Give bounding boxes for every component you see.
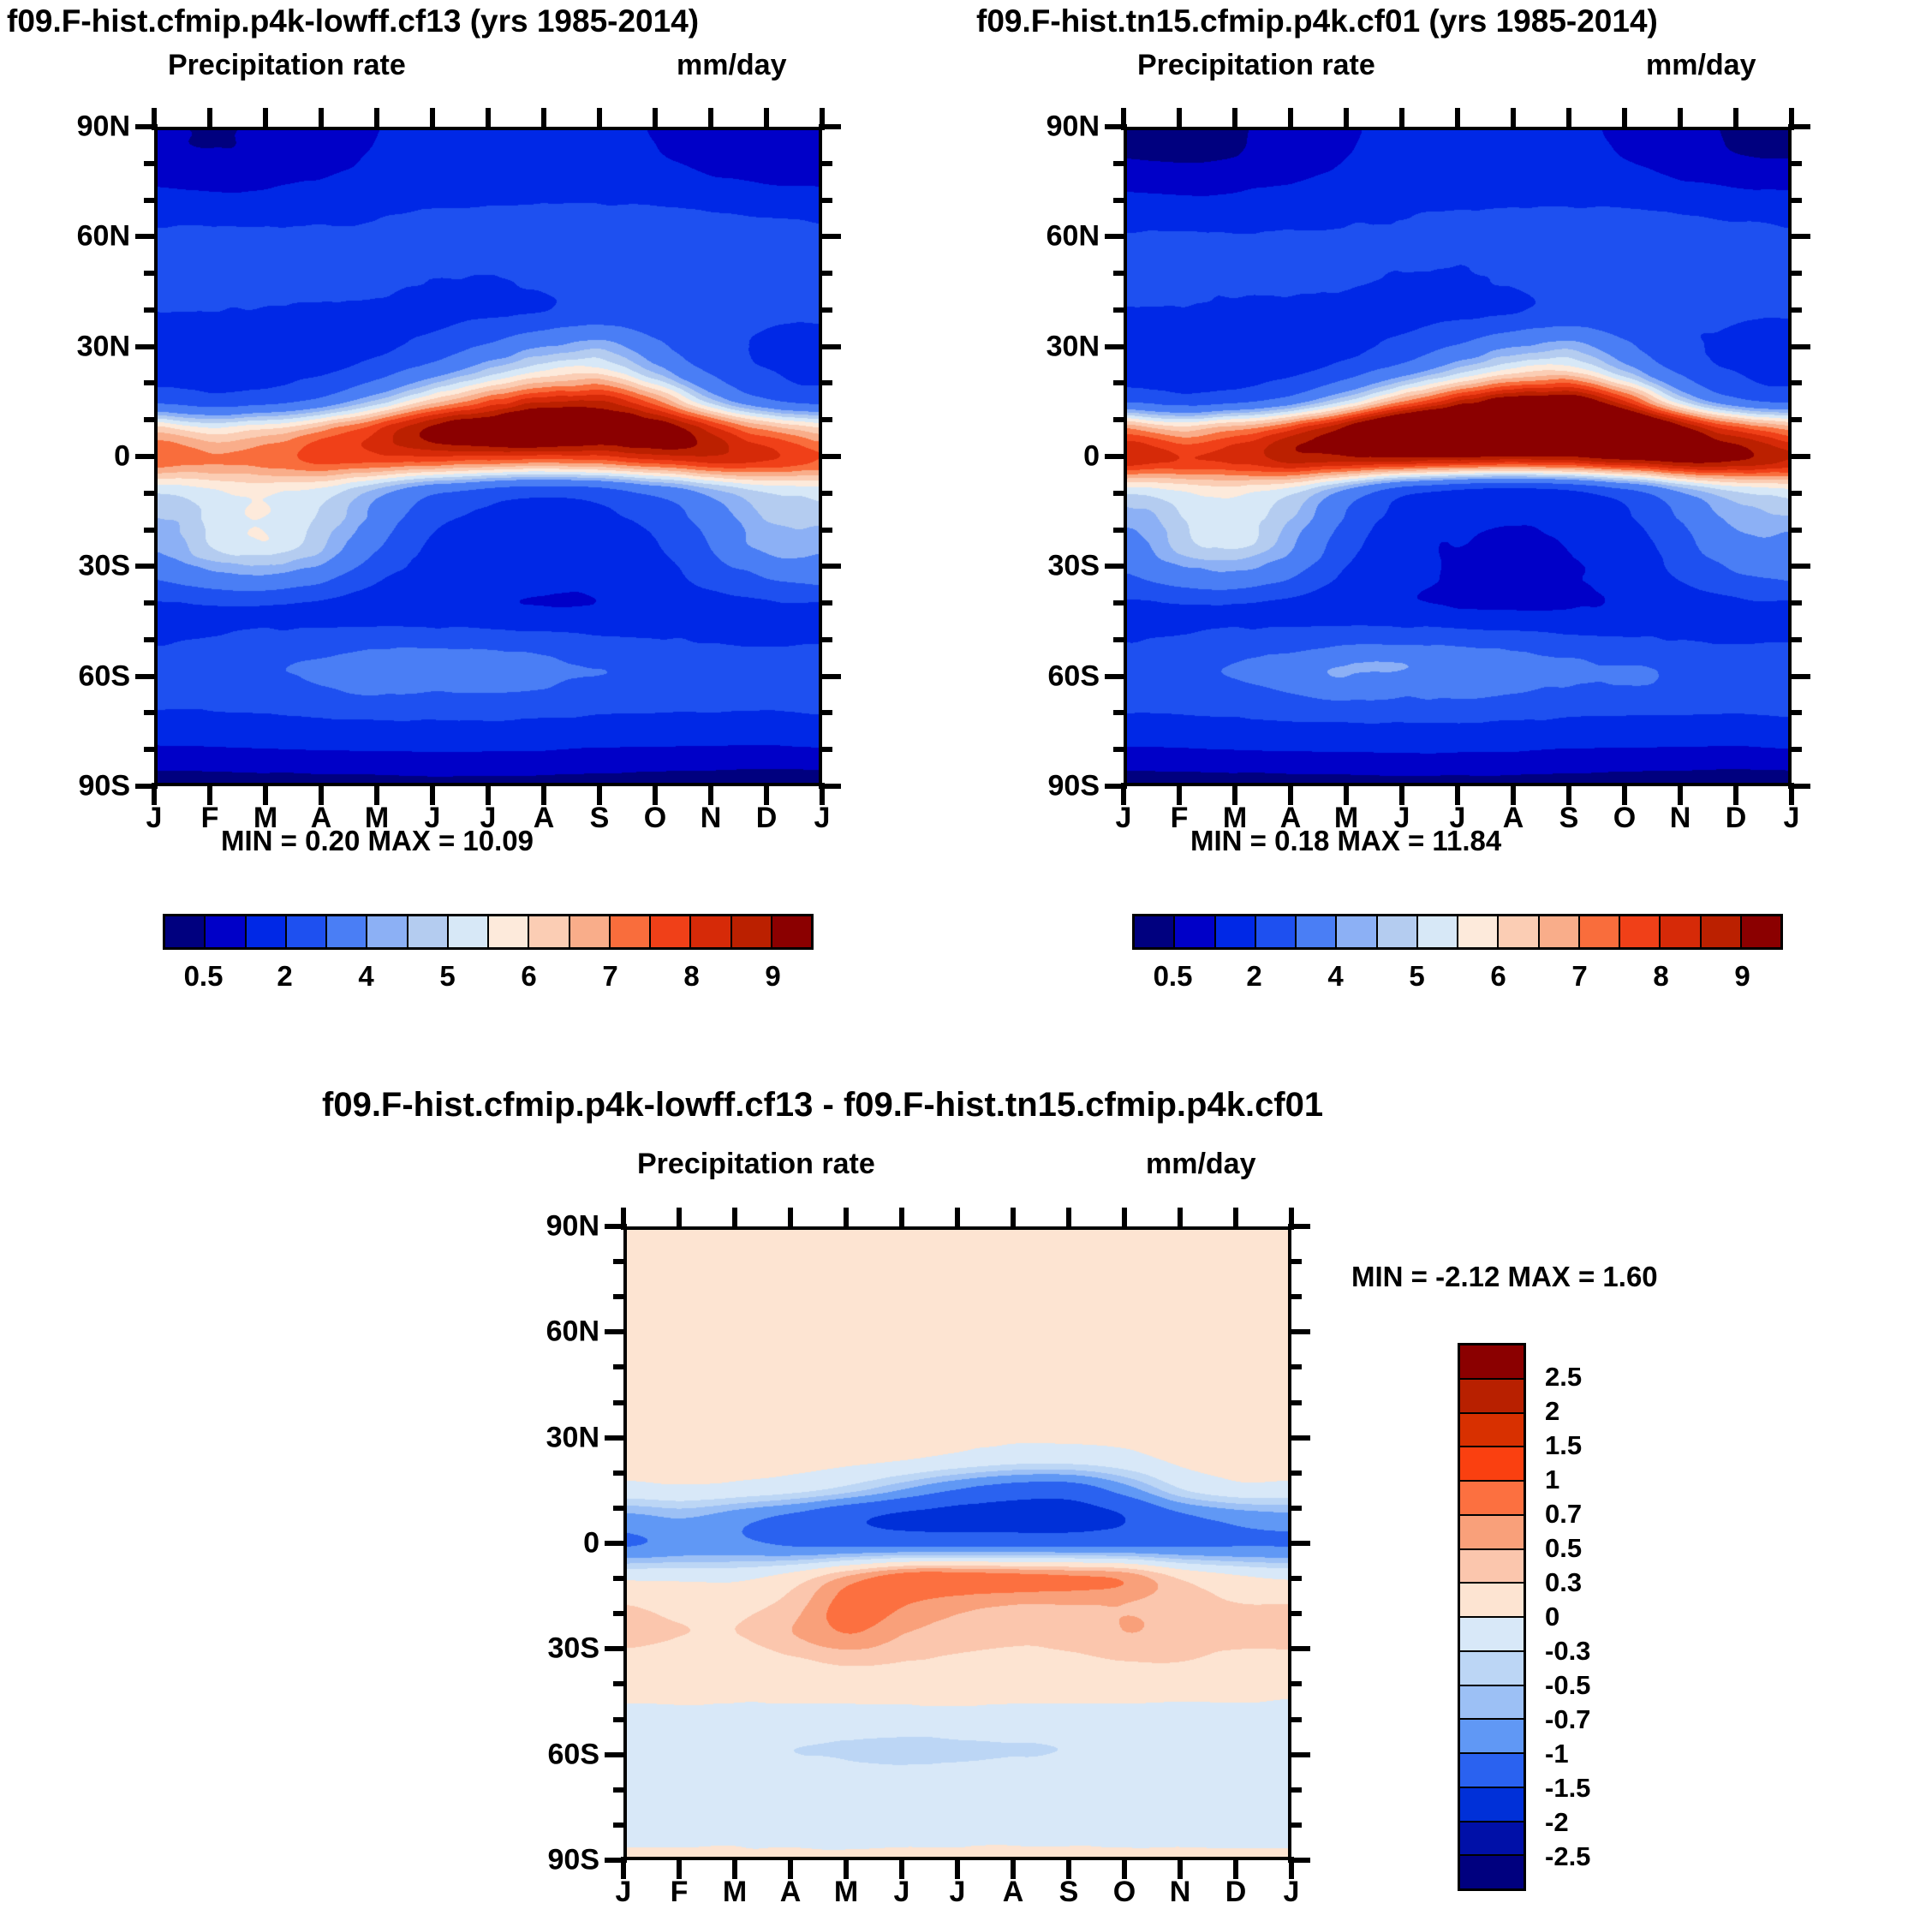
x-tick (820, 108, 825, 130)
colorbar-tick-label: 0.5 (1545, 1533, 1582, 1564)
colorbar-swatch (1499, 916, 1539, 947)
x-tick (708, 108, 713, 130)
x-tick (621, 1208, 626, 1230)
colorbar-swatch (1460, 1482, 1524, 1516)
y-tick-minor (1788, 380, 1802, 385)
y-axis-label: 90N (978, 110, 1100, 144)
colorbar-tick-label: 9 (765, 960, 780, 993)
colorbar-top-left[interactable] (163, 914, 814, 950)
colorbar-tick-label: 2 (1246, 960, 1261, 993)
y-tick-major (135, 454, 158, 459)
colorbar-tick-label: -0.3 (1545, 1636, 1590, 1667)
x-axis-month-label: J (814, 802, 831, 835)
y-tick-minor (819, 271, 832, 276)
x-tick (1178, 1208, 1183, 1230)
y-tick-minor (1288, 1294, 1302, 1299)
colorbar-tick-label: 1 (1545, 1465, 1559, 1495)
colorbar-swatch (1540, 916, 1580, 947)
y-tick-minor (613, 1576, 627, 1581)
y-tick-major (605, 1435, 627, 1441)
y-tick-minor (144, 307, 158, 313)
colorbar-swatch (1460, 1516, 1524, 1550)
x-axis-month-label: S (590, 802, 610, 835)
colorbar-swatch (1460, 1618, 1524, 1652)
y-tick-minor (1288, 1364, 1302, 1369)
y-tick-major (1288, 1646, 1310, 1651)
y-tick-minor (819, 198, 832, 203)
colorbar-tick-label: 9 (1734, 960, 1750, 993)
x-tick (1122, 1208, 1127, 1230)
x-tick (1344, 108, 1349, 130)
y-tick-minor (613, 1787, 627, 1793)
colorbar-tick-label: 4 (358, 960, 373, 993)
min-max-difference: MIN = -2.12 MAX = 1.60 (1351, 1261, 1658, 1293)
x-axis-month-label: N (1670, 802, 1691, 835)
colorbar-swatch (1460, 1414, 1524, 1448)
colorbar-tick-label: 0.3 (1545, 1567, 1582, 1598)
x-tick (844, 1208, 849, 1230)
x-axis-month-label: J (1116, 802, 1132, 835)
y-tick-minor (1288, 1823, 1302, 1828)
colorbar-swatch (529, 916, 569, 947)
y-tick-minor (1113, 161, 1127, 166)
colorbar-swatch (489, 916, 529, 947)
y-tick-major (605, 1752, 627, 1757)
y-tick-minor (613, 1681, 627, 1686)
y-tick-minor (1288, 1259, 1302, 1264)
min-max-top-left: MIN = 0.20 MAX = 10.09 (221, 825, 534, 857)
colorbar-swatch (1175, 916, 1215, 947)
y-tick-minor (1113, 747, 1127, 752)
colorbar-tick-label: -2 (1545, 1807, 1569, 1838)
y-tick-minor (1788, 528, 1802, 533)
y-tick-major (819, 564, 841, 569)
colorbar-swatch (1460, 1652, 1524, 1686)
x-tick (486, 108, 491, 130)
y-tick-minor (1288, 1611, 1302, 1616)
y-tick-minor (1113, 491, 1127, 496)
y-tick-minor (1113, 417, 1127, 422)
colorbar-swatch (1460, 1550, 1524, 1584)
x-tick (1066, 1208, 1071, 1230)
figure-root: f09.F-hist.cfmip.p4k-lowff.cf13 (yrs 198… (0, 0, 1932, 1915)
y-axis-label: 90N (9, 110, 130, 144)
x-tick (732, 1208, 737, 1230)
y-tick-minor (819, 380, 832, 385)
colorbar-swatch (1460, 1345, 1524, 1380)
colorbar-swatch (1458, 916, 1499, 947)
y-tick-minor (819, 710, 832, 715)
colorbar-swatch (1337, 916, 1377, 947)
x-tick (1455, 108, 1460, 130)
colorbar-swatch (1460, 1380, 1524, 1414)
y-tick-major (135, 564, 158, 569)
y-tick-minor (144, 600, 158, 606)
colorbar-tick-label: -2.5 (1545, 1841, 1590, 1872)
colorbar-tick-label: 2 (277, 960, 292, 993)
colorbar-swatch (1460, 1686, 1524, 1721)
x-tick (1678, 108, 1683, 130)
y-tick-minor (144, 491, 158, 496)
y-tick-minor (1288, 1681, 1302, 1686)
x-tick (207, 108, 212, 130)
y-tick-minor (1788, 161, 1802, 166)
y-tick-major (1288, 1541, 1310, 1546)
y-tick-minor (1113, 637, 1127, 642)
variable-label-difference: Precipitation rate (637, 1148, 875, 1181)
y-tick-major (1788, 454, 1810, 459)
colorbar-tick-label: 5 (439, 960, 455, 993)
x-axis-month-label: J (1284, 1876, 1300, 1909)
y-tick-minor (1113, 528, 1127, 533)
y-axis-label: 90N (478, 1210, 599, 1244)
colorbar-tick-label: 0.5 (1154, 960, 1193, 993)
y-tick-minor (1113, 380, 1127, 385)
y-axis-label: 30N (978, 330, 1100, 363)
x-tick (1789, 108, 1794, 130)
y-tick-major (605, 1541, 627, 1546)
x-tick (430, 108, 435, 130)
x-axis-month-label: J (894, 1876, 910, 1909)
x-tick (653, 108, 658, 130)
colorbar-tick-label: 6 (521, 960, 536, 993)
x-axis-month-label: M (723, 1876, 747, 1909)
colorbar-swatch (1216, 916, 1256, 947)
y-tick-major (605, 1646, 627, 1651)
y-axis-label: 90S (9, 770, 130, 803)
y-tick-major (1788, 564, 1810, 569)
colorbar-tick-label: 1.5 (1545, 1430, 1582, 1461)
colorbar-swatch (732, 916, 772, 947)
x-axis-month-label: J (616, 1876, 632, 1909)
x-axis-month-label: M (834, 1876, 858, 1909)
y-axis-label: 0 (478, 1527, 599, 1560)
min-max-top-right: MIN = 0.18 MAX = 11.84 (1190, 825, 1501, 857)
y-tick-minor (1788, 491, 1802, 496)
panel-title-top-right: f09.F-hist.tn15.cfmip.p4k.cf01 (yrs 1985… (976, 3, 1658, 39)
y-tick-minor (1788, 747, 1802, 752)
y-tick-major (1105, 674, 1127, 679)
y-tick-minor (1788, 307, 1802, 313)
y-tick-minor (819, 528, 832, 533)
colorbar-swatch (1742, 916, 1780, 947)
colorbar-swatch (1460, 1720, 1524, 1754)
colorbar-swatch (247, 916, 287, 947)
units-label-top-right: mm/day (1646, 49, 1756, 82)
x-tick (1177, 108, 1182, 130)
colorbar-swatch (1297, 916, 1337, 947)
x-axis-month-label: F (1171, 802, 1189, 835)
y-tick-minor (613, 1259, 627, 1264)
colorbar-swatch (1460, 1754, 1524, 1788)
y-tick-minor (613, 1717, 627, 1722)
x-axis-month-label: F (671, 1876, 689, 1909)
y-tick-minor (613, 1294, 627, 1299)
x-tick (677, 1208, 682, 1230)
y-axis-label: 0 (9, 440, 130, 474)
colorbar-swatch (691, 916, 731, 947)
y-tick-minor (144, 747, 158, 752)
y-axis-label: 30S (9, 550, 130, 583)
x-axis-month-label: D (1726, 802, 1747, 835)
colorbar-tick-label: 7 (602, 960, 617, 993)
colorbar-tick-label: 2 (1545, 1396, 1559, 1427)
y-axis-label: 60S (978, 659, 1100, 693)
x-tick (764, 108, 769, 130)
colorbar-swatch (327, 916, 367, 947)
y-axis-label: 90S (478, 1844, 599, 1877)
colorbar-tick-label: -1.5 (1545, 1773, 1590, 1804)
y-tick-minor (613, 1400, 627, 1405)
x-axis-month-label: O (644, 802, 666, 835)
x-axis-month-label: A (1003, 1876, 1024, 1909)
colorbar-swatch (1460, 1856, 1524, 1888)
y-tick-minor (613, 1471, 627, 1476)
x-axis-month-label: J (1784, 802, 1800, 835)
colorbar-swatch (1661, 916, 1701, 947)
colorbar-tick-label: 4 (1327, 960, 1343, 993)
x-tick (541, 108, 546, 130)
plot-area-difference[interactable] (623, 1226, 1291, 1860)
colorbar-swatch (367, 916, 408, 947)
y-axis-label: 60S (478, 1738, 599, 1771)
y-axis-label: 30S (978, 550, 1100, 583)
colorbar-tick-label: 2.5 (1545, 1362, 1582, 1393)
y-tick-minor (1788, 271, 1802, 276)
y-axis-label: 60N (978, 220, 1100, 254)
colorbar-tick-label: 0 (1545, 1602, 1559, 1632)
colorbar-tick-label: -0.5 (1545, 1670, 1590, 1701)
colorbar-tick-label: 8 (683, 960, 699, 993)
y-tick-minor (1113, 710, 1127, 715)
x-tick (1011, 1208, 1016, 1230)
y-tick-minor (1788, 417, 1802, 422)
x-tick (1288, 108, 1293, 130)
y-tick-major (1105, 454, 1127, 459)
units-label-difference: mm/day (1146, 1148, 1256, 1181)
y-tick-major (135, 234, 158, 239)
y-axis-label: 60N (9, 220, 130, 254)
y-tick-minor (1788, 600, 1802, 606)
y-axis-label: 30N (9, 330, 130, 363)
y-tick-minor (144, 271, 158, 276)
y-tick-minor (144, 380, 158, 385)
colorbar-swatch (570, 916, 611, 947)
panel-title-bottom: f09.F-hist.cfmip.p4k-lowff.cf13 - f09.F-… (322, 1086, 1323, 1125)
plot-area-top-left[interactable] (154, 127, 822, 786)
y-tick-major (1105, 344, 1127, 349)
colorbar-tick-label: 0.5 (184, 960, 224, 993)
y-axis-label: 30N (478, 1421, 599, 1454)
y-tick-major (1288, 1752, 1310, 1757)
colorbar-tick-label: 6 (1490, 960, 1506, 993)
x-tick (1233, 1208, 1238, 1230)
x-axis-month-label: N (701, 802, 722, 835)
y-tick-major (1788, 344, 1810, 349)
y-tick-minor (144, 161, 158, 166)
colorbar-swatch (1378, 916, 1418, 947)
colorbar-top-right[interactable] (1132, 914, 1783, 950)
x-tick (1733, 108, 1738, 130)
panel-title-top-left: f09.F-hist.cfmip.p4k-lowff.cf13 (yrs 198… (7, 3, 699, 39)
y-axis-label: 0 (978, 440, 1100, 474)
y-axis-label: 30S (478, 1632, 599, 1666)
y-tick-major (605, 1329, 627, 1334)
y-tick-minor (1288, 1471, 1302, 1476)
y-tick-minor (144, 637, 158, 642)
x-axis-month-label: D (1225, 1876, 1247, 1909)
y-tick-major (1288, 1435, 1310, 1441)
plot-area-top-right[interactable] (1124, 127, 1792, 786)
x-tick (374, 108, 379, 130)
x-tick (1289, 1208, 1294, 1230)
x-axis-month-label: O (1113, 1876, 1136, 1909)
y-tick-minor (819, 417, 832, 422)
colorbar-swatch (1418, 916, 1458, 947)
y-tick-minor (819, 307, 832, 313)
colorbar-swatch (1460, 1823, 1524, 1857)
colorbar-swatch (1460, 1447, 1524, 1482)
y-tick-minor (1788, 637, 1802, 642)
y-tick-major (1288, 1329, 1310, 1334)
x-tick (152, 108, 157, 130)
colorbar-tick-label: 7 (1571, 960, 1587, 993)
y-tick-minor (1288, 1576, 1302, 1581)
x-tick (899, 1208, 904, 1230)
colorbar-tick-label: -0.7 (1545, 1704, 1590, 1735)
y-tick-minor (144, 198, 158, 203)
variable-label-top-left: Precipitation rate (168, 49, 406, 82)
x-tick (1399, 108, 1404, 130)
colorbar-swatch (1460, 1788, 1524, 1823)
x-axis-month-label: N (1170, 1876, 1191, 1909)
colorbar-swatch (165, 916, 206, 947)
colorbar-swatch (1135, 916, 1175, 947)
colorbar-swatch (449, 916, 489, 947)
y-tick-major (819, 234, 841, 239)
x-tick (1566, 108, 1571, 130)
colorbar-swatch (772, 916, 811, 947)
colorbar-swatch (1620, 916, 1661, 947)
units-label-top-left: mm/day (677, 49, 787, 82)
y-tick-minor (819, 491, 832, 496)
colorbar-tick-label: 5 (1409, 960, 1424, 993)
colorbar-swatch (206, 916, 246, 947)
x-axis-month-label: A (780, 1876, 802, 1909)
x-tick (788, 1208, 793, 1230)
y-tick-minor (1288, 1717, 1302, 1722)
colorbar-swatch (1702, 916, 1742, 947)
x-tick (319, 108, 324, 130)
y-tick-minor (819, 747, 832, 752)
y-tick-minor (613, 1506, 627, 1511)
y-tick-minor (819, 161, 832, 166)
y-tick-minor (613, 1364, 627, 1369)
x-tick (1511, 108, 1516, 130)
y-tick-minor (144, 710, 158, 715)
x-axis-month-label: J (146, 802, 163, 835)
x-axis-month-label: F (201, 802, 219, 835)
x-axis-month-label: J (950, 1876, 966, 1909)
colorbar-difference[interactable] (1458, 1343, 1526, 1891)
x-axis-month-label: A (534, 802, 555, 835)
y-axis-label: 90S (978, 770, 1100, 803)
x-axis-month-label: S (1059, 1876, 1079, 1909)
x-tick (1232, 108, 1237, 130)
x-tick (1622, 108, 1627, 130)
y-tick-major (135, 674, 158, 679)
y-tick-minor (1288, 1787, 1302, 1793)
x-axis-month-label: D (756, 802, 778, 835)
x-tick (1121, 108, 1126, 130)
y-tick-major (819, 454, 841, 459)
colorbar-swatch (651, 916, 691, 947)
y-tick-major (1105, 234, 1127, 239)
y-tick-major (819, 674, 841, 679)
x-tick (263, 108, 268, 130)
y-tick-minor (819, 600, 832, 606)
colorbar-swatch (1256, 916, 1297, 947)
colorbar-tick-label: 8 (1653, 960, 1668, 993)
y-tick-major (1788, 234, 1810, 239)
y-tick-minor (144, 417, 158, 422)
y-tick-minor (144, 528, 158, 533)
y-tick-minor (1788, 710, 1802, 715)
y-tick-major (1105, 564, 1127, 569)
y-tick-major (819, 344, 841, 349)
y-tick-minor (1113, 271, 1127, 276)
colorbar-tick-label: -1 (1545, 1739, 1569, 1769)
colorbar-swatch (408, 916, 449, 947)
colorbar-tick-label: 0.7 (1545, 1499, 1582, 1530)
y-axis-label: 60S (9, 659, 130, 693)
x-axis-month-label: S (1559, 802, 1579, 835)
x-tick (597, 108, 602, 130)
y-tick-minor (1113, 198, 1127, 203)
colorbar-swatch (287, 916, 327, 947)
x-axis-month-label: A (1503, 802, 1524, 835)
colorbar-swatch (1460, 1584, 1524, 1618)
colorbar-swatch (1580, 916, 1620, 947)
y-tick-minor (1113, 600, 1127, 606)
y-tick-major (1788, 674, 1810, 679)
y-tick-minor (1788, 198, 1802, 203)
y-tick-minor (819, 637, 832, 642)
y-axis-label: 60N (478, 1315, 599, 1349)
y-tick-major (135, 344, 158, 349)
variable-label-top-right: Precipitation rate (1137, 49, 1375, 82)
colorbar-swatch (611, 916, 651, 947)
y-tick-minor (613, 1611, 627, 1616)
x-axis-month-label: O (1613, 802, 1636, 835)
y-tick-minor (1288, 1506, 1302, 1511)
x-tick (955, 1208, 960, 1230)
y-tick-minor (1113, 307, 1127, 313)
y-tick-minor (613, 1823, 627, 1828)
y-tick-minor (1288, 1400, 1302, 1405)
